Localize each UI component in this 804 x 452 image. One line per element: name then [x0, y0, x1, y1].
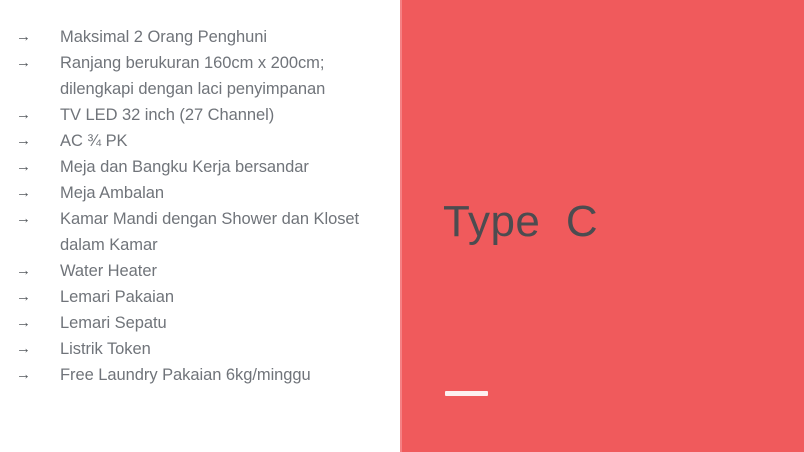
list-item-label: Free Laundry Pakaian 6kg/minggu [60, 362, 380, 388]
list-item: → Maksimal 2 Orang Penghuni [14, 24, 382, 50]
arrow-right-icon: → [14, 102, 60, 128]
arrow-right-icon: → [14, 180, 60, 206]
title-divider [445, 391, 488, 396]
list-item: → Meja dan Bangku Kerja bersandar [14, 154, 382, 180]
list-item-label: Listrik Token [60, 336, 380, 362]
list-item-label: Maksimal 2 Orang Penghuni [60, 24, 380, 50]
list-item-label: Water Heater [60, 258, 380, 284]
arrow-right-icon: → [14, 258, 60, 284]
list-item: → Kamar Mandi dengan Shower dan Kloset d… [14, 206, 382, 258]
slide: → Maksimal 2 Orang Penghuni → Ranjang be… [0, 0, 804, 452]
arrow-right-icon: → [14, 206, 60, 232]
list-item: → TV LED 32 inch (27 Channel) [14, 102, 382, 128]
list-item: → Water Heater [14, 258, 382, 284]
page-title: Type C [443, 196, 598, 248]
arrow-right-icon: → [14, 24, 60, 50]
list-item-label: AC ¾ PK [60, 128, 380, 154]
arrow-right-icon: → [14, 362, 60, 388]
list-item: → Lemari Pakaian [14, 284, 382, 310]
arrow-right-icon: → [14, 154, 60, 180]
arrow-right-icon: → [14, 284, 60, 310]
list-item: → Meja Ambalan [14, 180, 382, 206]
feature-list: → Maksimal 2 Orang Penghuni → Ranjang be… [14, 24, 382, 388]
arrow-right-icon: → [14, 128, 60, 154]
arrow-right-icon: → [14, 50, 60, 76]
arrow-right-icon: → [14, 336, 60, 362]
list-item-label: TV LED 32 inch (27 Channel) [60, 102, 380, 128]
arrow-right-icon: → [14, 310, 60, 336]
list-item-label: Meja dan Bangku Kerja bersandar [60, 154, 380, 180]
list-item-label: Kamar Mandi dengan Shower dan Kloset dal… [60, 206, 380, 258]
list-item-label: Meja Ambalan [60, 180, 380, 206]
features-panel: → Maksimal 2 Orang Penghuni → Ranjang be… [0, 0, 400, 452]
list-item-label: Ranjang berukuran 160cm x 200cm; dilengk… [60, 50, 380, 102]
list-item: → Listrik Token [14, 336, 382, 362]
title-panel: Type C [400, 0, 804, 452]
list-item-label: Lemari Sepatu [60, 310, 380, 336]
list-item: → AC ¾ PK [14, 128, 382, 154]
list-item: → Free Laundry Pakaian 6kg/minggu [14, 362, 382, 388]
list-item: → Ranjang berukuran 160cm x 200cm; dilen… [14, 50, 382, 102]
list-item: → Lemari Sepatu [14, 310, 382, 336]
list-item-label: Lemari Pakaian [60, 284, 380, 310]
